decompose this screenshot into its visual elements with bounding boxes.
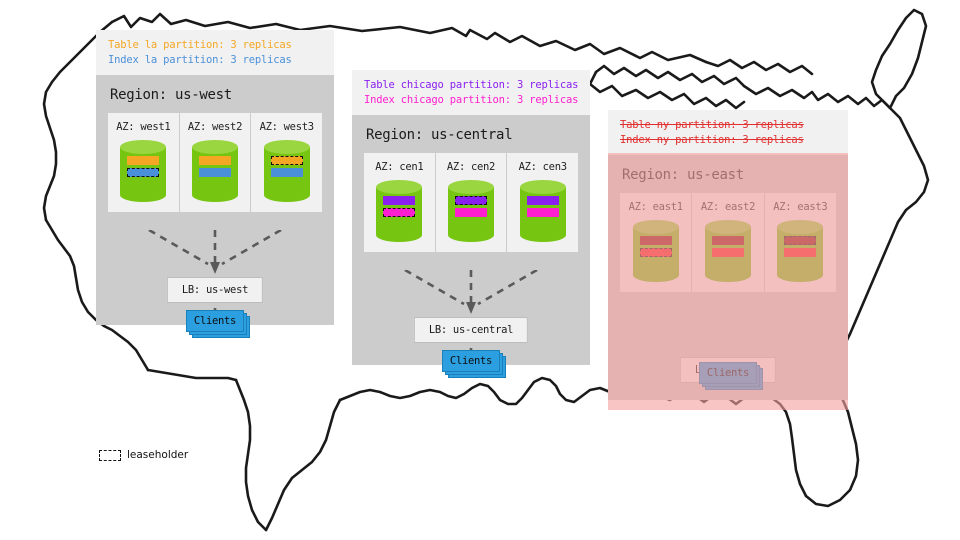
load-balancer-us-west[interactable]: LB: us-west — [167, 277, 263, 303]
region-header-us-east: Table ny partition: 3 replicas Index ny … — [608, 110, 848, 155]
az-label-east3: AZ: east3 — [773, 201, 827, 213]
partition-label-table-la: Table la partition: 3 replicas — [108, 38, 322, 53]
node-cylinder-cen2[interactable] — [448, 180, 494, 242]
az-west3[interactable]: AZ: west3 — [251, 113, 322, 212]
replica-table-chicago — [383, 196, 415, 205]
node-cylinder-west1[interactable] — [120, 140, 166, 202]
replica-index-chicago-leaseholder — [383, 208, 415, 217]
region-panel-us-west: Table la partition: 3 replicas Index la … — [96, 30, 334, 325]
load-balancer-us-central[interactable]: LB: us-central — [414, 317, 528, 343]
replica-slots — [520, 196, 566, 217]
az-label-cen2: AZ: cen2 — [447, 161, 495, 173]
node-cylinder-west2[interactable] — [192, 140, 238, 202]
diagram-canvas: Table la partition: 3 replicas Index la … — [0, 0, 960, 540]
az-to-lb-connectors — [96, 230, 334, 275]
clients-label: Clients — [707, 367, 749, 379]
clients-stack-front: Clients — [442, 350, 500, 372]
node-cylinder-east1[interactable] — [633, 220, 679, 282]
clients-wrap-us-east: Clients — [608, 362, 848, 384]
arrow-head — [466, 302, 476, 314]
partition-label-table-chicago: Table chicago partition: 3 replicas — [364, 78, 578, 93]
az-row-us-central: AZ: cen1 AZ: cen2 — [364, 153, 578, 252]
replica-table-chicago-leaseholder — [455, 196, 487, 205]
region-title-us-east: Region: us-east — [608, 155, 848, 193]
node-cylinder-west3[interactable] — [264, 140, 310, 202]
node-cylinder-east3[interactable] — [777, 220, 823, 282]
replica-index-la-leaseholder — [127, 168, 159, 177]
replica-table-ny — [712, 236, 744, 245]
az-to-lb-connectors — [352, 270, 590, 315]
replica-slots — [192, 156, 238, 177]
az-label-west2: AZ: west2 — [188, 121, 242, 133]
replica-slots — [448, 196, 494, 217]
replica-table-la-leaseholder — [271, 156, 303, 165]
replica-index-la — [271, 168, 303, 177]
replica-slots — [705, 236, 751, 257]
az-east3[interactable]: AZ: east3 — [765, 193, 836, 292]
dashed-box-icon — [99, 450, 121, 461]
region-title-us-central: Region: us-central — [352, 115, 590, 153]
arrow-head — [210, 262, 220, 274]
az-label-west3: AZ: west3 — [260, 121, 314, 133]
az-row-us-west: AZ: west1 AZ: west2 — [108, 113, 322, 212]
legend-label: leaseholder — [127, 449, 188, 461]
clients-us-central[interactable]: Clients — [442, 350, 500, 372]
clients-wrap-us-central: Clients — [352, 350, 590, 372]
clients-label: Clients — [450, 355, 492, 367]
az-east2[interactable]: AZ: east2 — [692, 193, 764, 292]
replica-slots — [777, 236, 823, 257]
az-label-cen1: AZ: cen1 — [375, 161, 423, 173]
az-cen1[interactable]: AZ: cen1 — [364, 153, 436, 252]
az-label-cen3: AZ: cen3 — [519, 161, 567, 173]
region-title-us-west: Region: us-west — [96, 75, 334, 113]
replica-slots — [376, 196, 422, 217]
az-cen3[interactable]: AZ: cen3 — [507, 153, 578, 252]
node-cylinder-cen1[interactable] — [376, 180, 422, 242]
replica-table-la — [127, 156, 159, 165]
replica-index-ny — [784, 248, 816, 257]
partition-label-index-la: Index la partition: 3 replicas — [108, 53, 322, 68]
clients-stack-front: Clients — [699, 362, 757, 384]
az-label-west1: AZ: west1 — [116, 121, 170, 133]
replica-table-la — [199, 156, 231, 165]
az-label-east2: AZ: east2 — [701, 201, 755, 213]
legend-leaseholder: leaseholder — [99, 449, 188, 461]
partition-label-table-ny: Table ny partition: 3 replicas — [620, 118, 836, 133]
replica-slots — [120, 156, 166, 177]
clients-stack-front: Clients — [186, 310, 244, 332]
region-panel-us-central: Table chicago partition: 3 replicas Inde… — [352, 70, 590, 365]
replica-slots — [264, 156, 310, 177]
replica-index-chicago — [455, 208, 487, 217]
region-panel-us-east: Table ny partition: 3 replicas Index ny … — [608, 110, 848, 400]
clients-us-west[interactable]: Clients — [186, 310, 244, 332]
replica-index-ny-leaseholder — [640, 248, 672, 257]
replica-table-chicago — [527, 196, 559, 205]
node-cylinder-cen3[interactable] — [520, 180, 566, 242]
az-west1[interactable]: AZ: west1 — [108, 113, 180, 212]
region-header-us-west: Table la partition: 3 replicas Index la … — [96, 30, 334, 75]
replica-table-ny — [640, 236, 672, 245]
node-cylinder-east2[interactable] — [705, 220, 751, 282]
az-label-east1: AZ: east1 — [629, 201, 683, 213]
clients-label: Clients — [194, 315, 236, 327]
replica-index-la — [199, 168, 231, 177]
replica-index-chicago — [527, 208, 559, 217]
region-header-us-central: Table chicago partition: 3 replicas Inde… — [352, 70, 590, 115]
clients-us-east[interactable]: Clients — [699, 362, 757, 384]
az-west2[interactable]: AZ: west2 — [180, 113, 252, 212]
az-cen2[interactable]: AZ: cen2 — [436, 153, 508, 252]
replica-index-ny — [712, 248, 744, 257]
partition-label-index-chicago: Index chicago partition: 3 replicas — [364, 93, 578, 108]
clients-wrap-us-west: Clients — [96, 310, 334, 332]
replica-table-ny-leaseholder — [784, 236, 816, 245]
partition-label-index-ny: Index ny partition: 3 replicas — [620, 133, 836, 148]
replica-slots — [633, 236, 679, 257]
az-row-us-east: AZ: east1 AZ: east2 — [620, 193, 836, 292]
az-east1[interactable]: AZ: east1 — [620, 193, 692, 292]
